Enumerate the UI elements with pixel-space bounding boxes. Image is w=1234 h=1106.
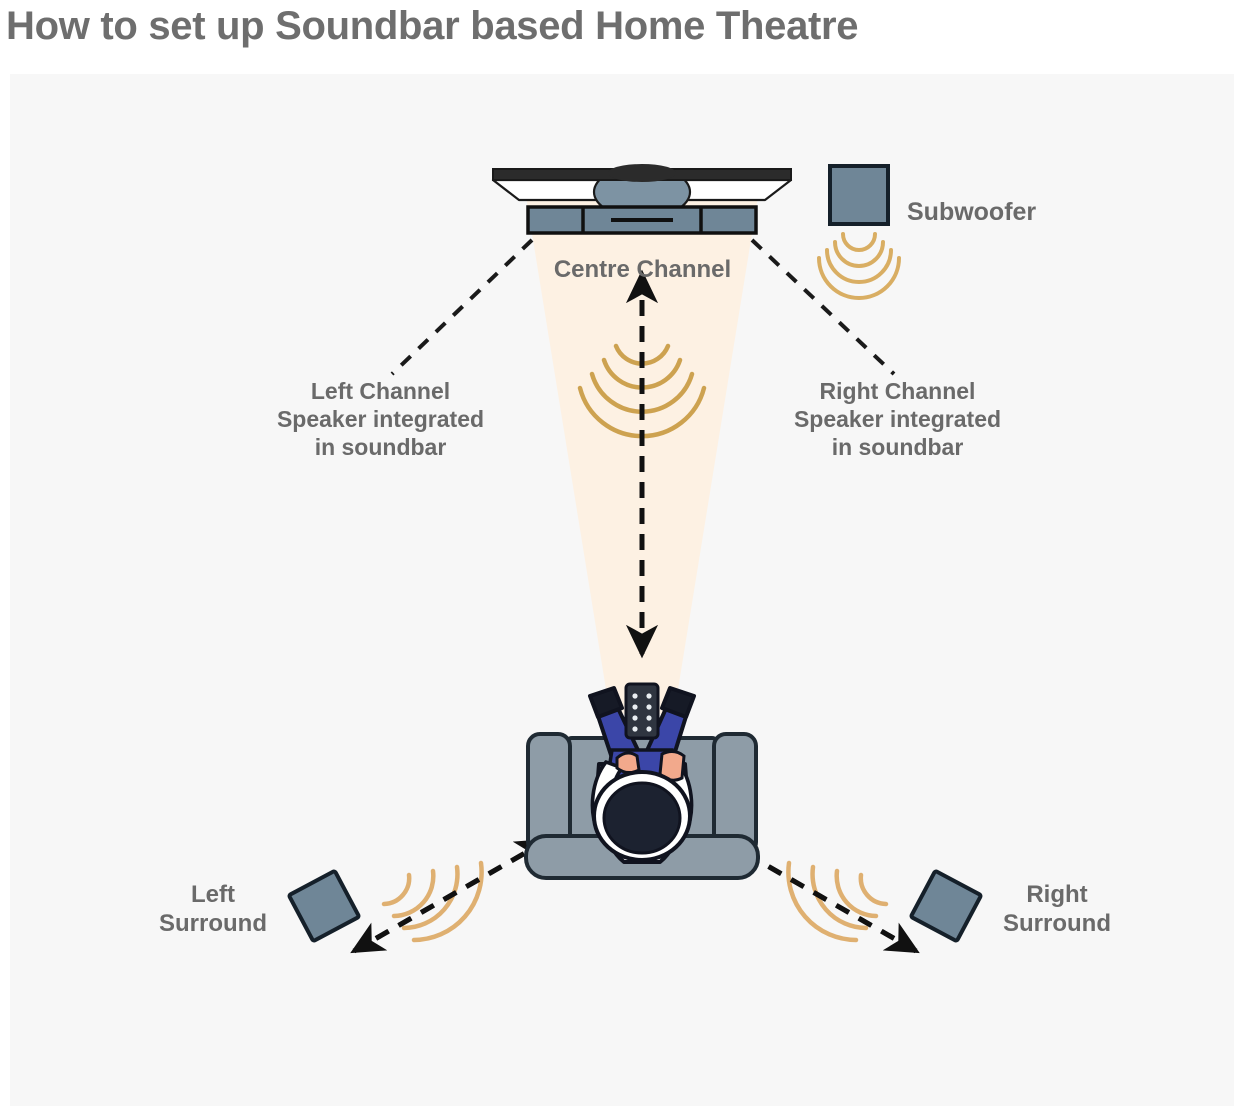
diagram-graphics xyxy=(10,74,1234,1106)
subwoofer-box xyxy=(830,166,888,224)
diagram-page: How to set up Soundbar based Home Theatr… xyxy=(0,0,1234,1106)
listener-on-couch xyxy=(526,684,758,878)
right-surround-soundwaves xyxy=(788,863,886,940)
page-title: How to set up Soundbar based Home Theatr… xyxy=(6,0,858,52)
listener-hand-left xyxy=(617,753,639,773)
title-bar: How to set up Soundbar based Home Theatr… xyxy=(0,0,1234,72)
diagram-canvas: Subwoofer Centre Channel Left Channel Sp… xyxy=(10,74,1234,1106)
soundbar xyxy=(528,207,756,233)
subwoofer xyxy=(819,166,899,298)
left-surround-arrow xyxy=(354,841,546,951)
remote-control xyxy=(626,684,658,738)
left-surround-soundwaves xyxy=(384,863,482,940)
subwoofer-soundwaves xyxy=(819,234,899,298)
listener-hair xyxy=(604,783,680,853)
right-surround-speaker xyxy=(911,871,981,941)
left-channel-guide xyxy=(392,240,532,374)
left-surround-speaker xyxy=(289,871,359,941)
